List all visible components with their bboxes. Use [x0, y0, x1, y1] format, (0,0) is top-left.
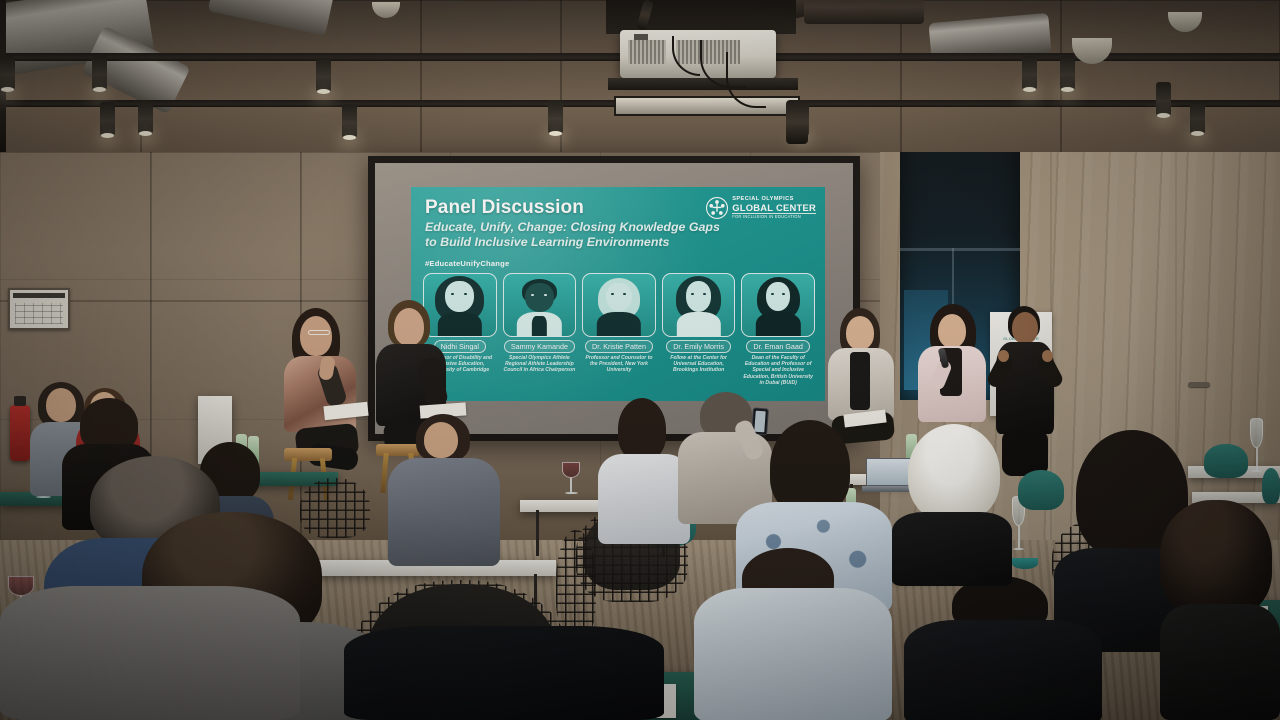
track-light — [1156, 82, 1171, 116]
special-olympics-logo: SPECIAL OLYMPICS GLOBAL CENTER FOR INCLU… — [706, 197, 816, 219]
panelist-role: Fellow at the Center for Universal Educa… — [662, 355, 736, 374]
panelist-card: Dr. Kristie Patten Professor and Counsel… — [582, 273, 656, 386]
spot-light — [786, 100, 808, 144]
light-strip — [614, 96, 800, 116]
track-light — [1060, 56, 1075, 90]
track-light — [92, 56, 107, 90]
panelist-portrait — [662, 273, 736, 337]
audience-member — [694, 548, 894, 720]
audience-member-foreground — [0, 586, 300, 720]
panelist-name: Dr. Kristie Patten — [585, 340, 653, 353]
eyeglasses — [308, 330, 330, 335]
conference-room-photo: Panel Discussion Educate, Unify, Change:… — [0, 0, 1280, 720]
track-light — [342, 104, 357, 138]
signing-hand — [998, 350, 1009, 362]
track-light — [1190, 100, 1205, 134]
audience-member — [384, 414, 504, 564]
track-light — [316, 58, 331, 92]
audience-member-foreground — [344, 626, 664, 720]
panelist-name: Dr. Emily Morris — [666, 340, 731, 353]
panelist-name: Sammy Kamande — [504, 340, 575, 353]
panelist-role: Professor and Counselor to the President… — [582, 355, 656, 374]
panelist-card: Dr. Emily Morris Fellow at the Center fo… — [662, 273, 736, 386]
panelist-portrait — [741, 273, 815, 337]
logo-line-3: FOR INCLUSION IN EDUCATION — [732, 213, 816, 219]
panelist-name: Dr. Eman Gaad — [746, 340, 810, 353]
fire-extinguisher — [10, 405, 30, 461]
track-light — [1022, 56, 1037, 90]
special-olympics-mark — [706, 197, 728, 219]
panelist-card-list: Nidhi Singal Professor of Disability and… — [423, 273, 815, 386]
panelist-role: Special Olympics Athlete Regional Athlet… — [503, 355, 577, 374]
track-light — [548, 100, 563, 134]
panelist-card: Sammy Kamande Special Olympics Athlete R… — [503, 273, 577, 386]
track-light — [0, 56, 15, 90]
slide-hashtag: #EducateUnifyChange — [425, 259, 509, 268]
signing-hand — [1042, 350, 1053, 362]
audience-member-foreground — [1160, 500, 1280, 720]
panelist-portrait — [582, 273, 656, 337]
panelist-role: Dean of the Faculty of Education and Pro… — [741, 355, 815, 386]
panelist-portrait — [503, 273, 577, 337]
track-light — [138, 100, 153, 134]
track-light — [100, 102, 115, 136]
door-handle[interactable] — [1188, 382, 1210, 387]
panelist-card: Dr. Eman Gaad Dean of the Faculty of Edu… — [741, 273, 815, 386]
duct-dark — [804, 0, 924, 24]
presentation-slide: Panel Discussion Educate, Unify, Change:… — [411, 187, 825, 401]
slide-title: Panel Discussion — [425, 197, 584, 219]
logo-line-2: GLOBAL CENTER — [732, 203, 816, 213]
projector-mount — [606, 0, 796, 34]
audience-member-foreground — [886, 424, 1016, 584]
slide-subtitle: Educate, Unify, Change: Closing Knowledg… — [425, 220, 725, 249]
audience-member — [904, 576, 1104, 720]
chair-teal[interactable] — [1262, 468, 1280, 504]
wire-mesh-chair[interactable] — [556, 530, 596, 640]
projector-shelf — [608, 78, 798, 90]
framed-evacuation-plan — [8, 288, 70, 330]
